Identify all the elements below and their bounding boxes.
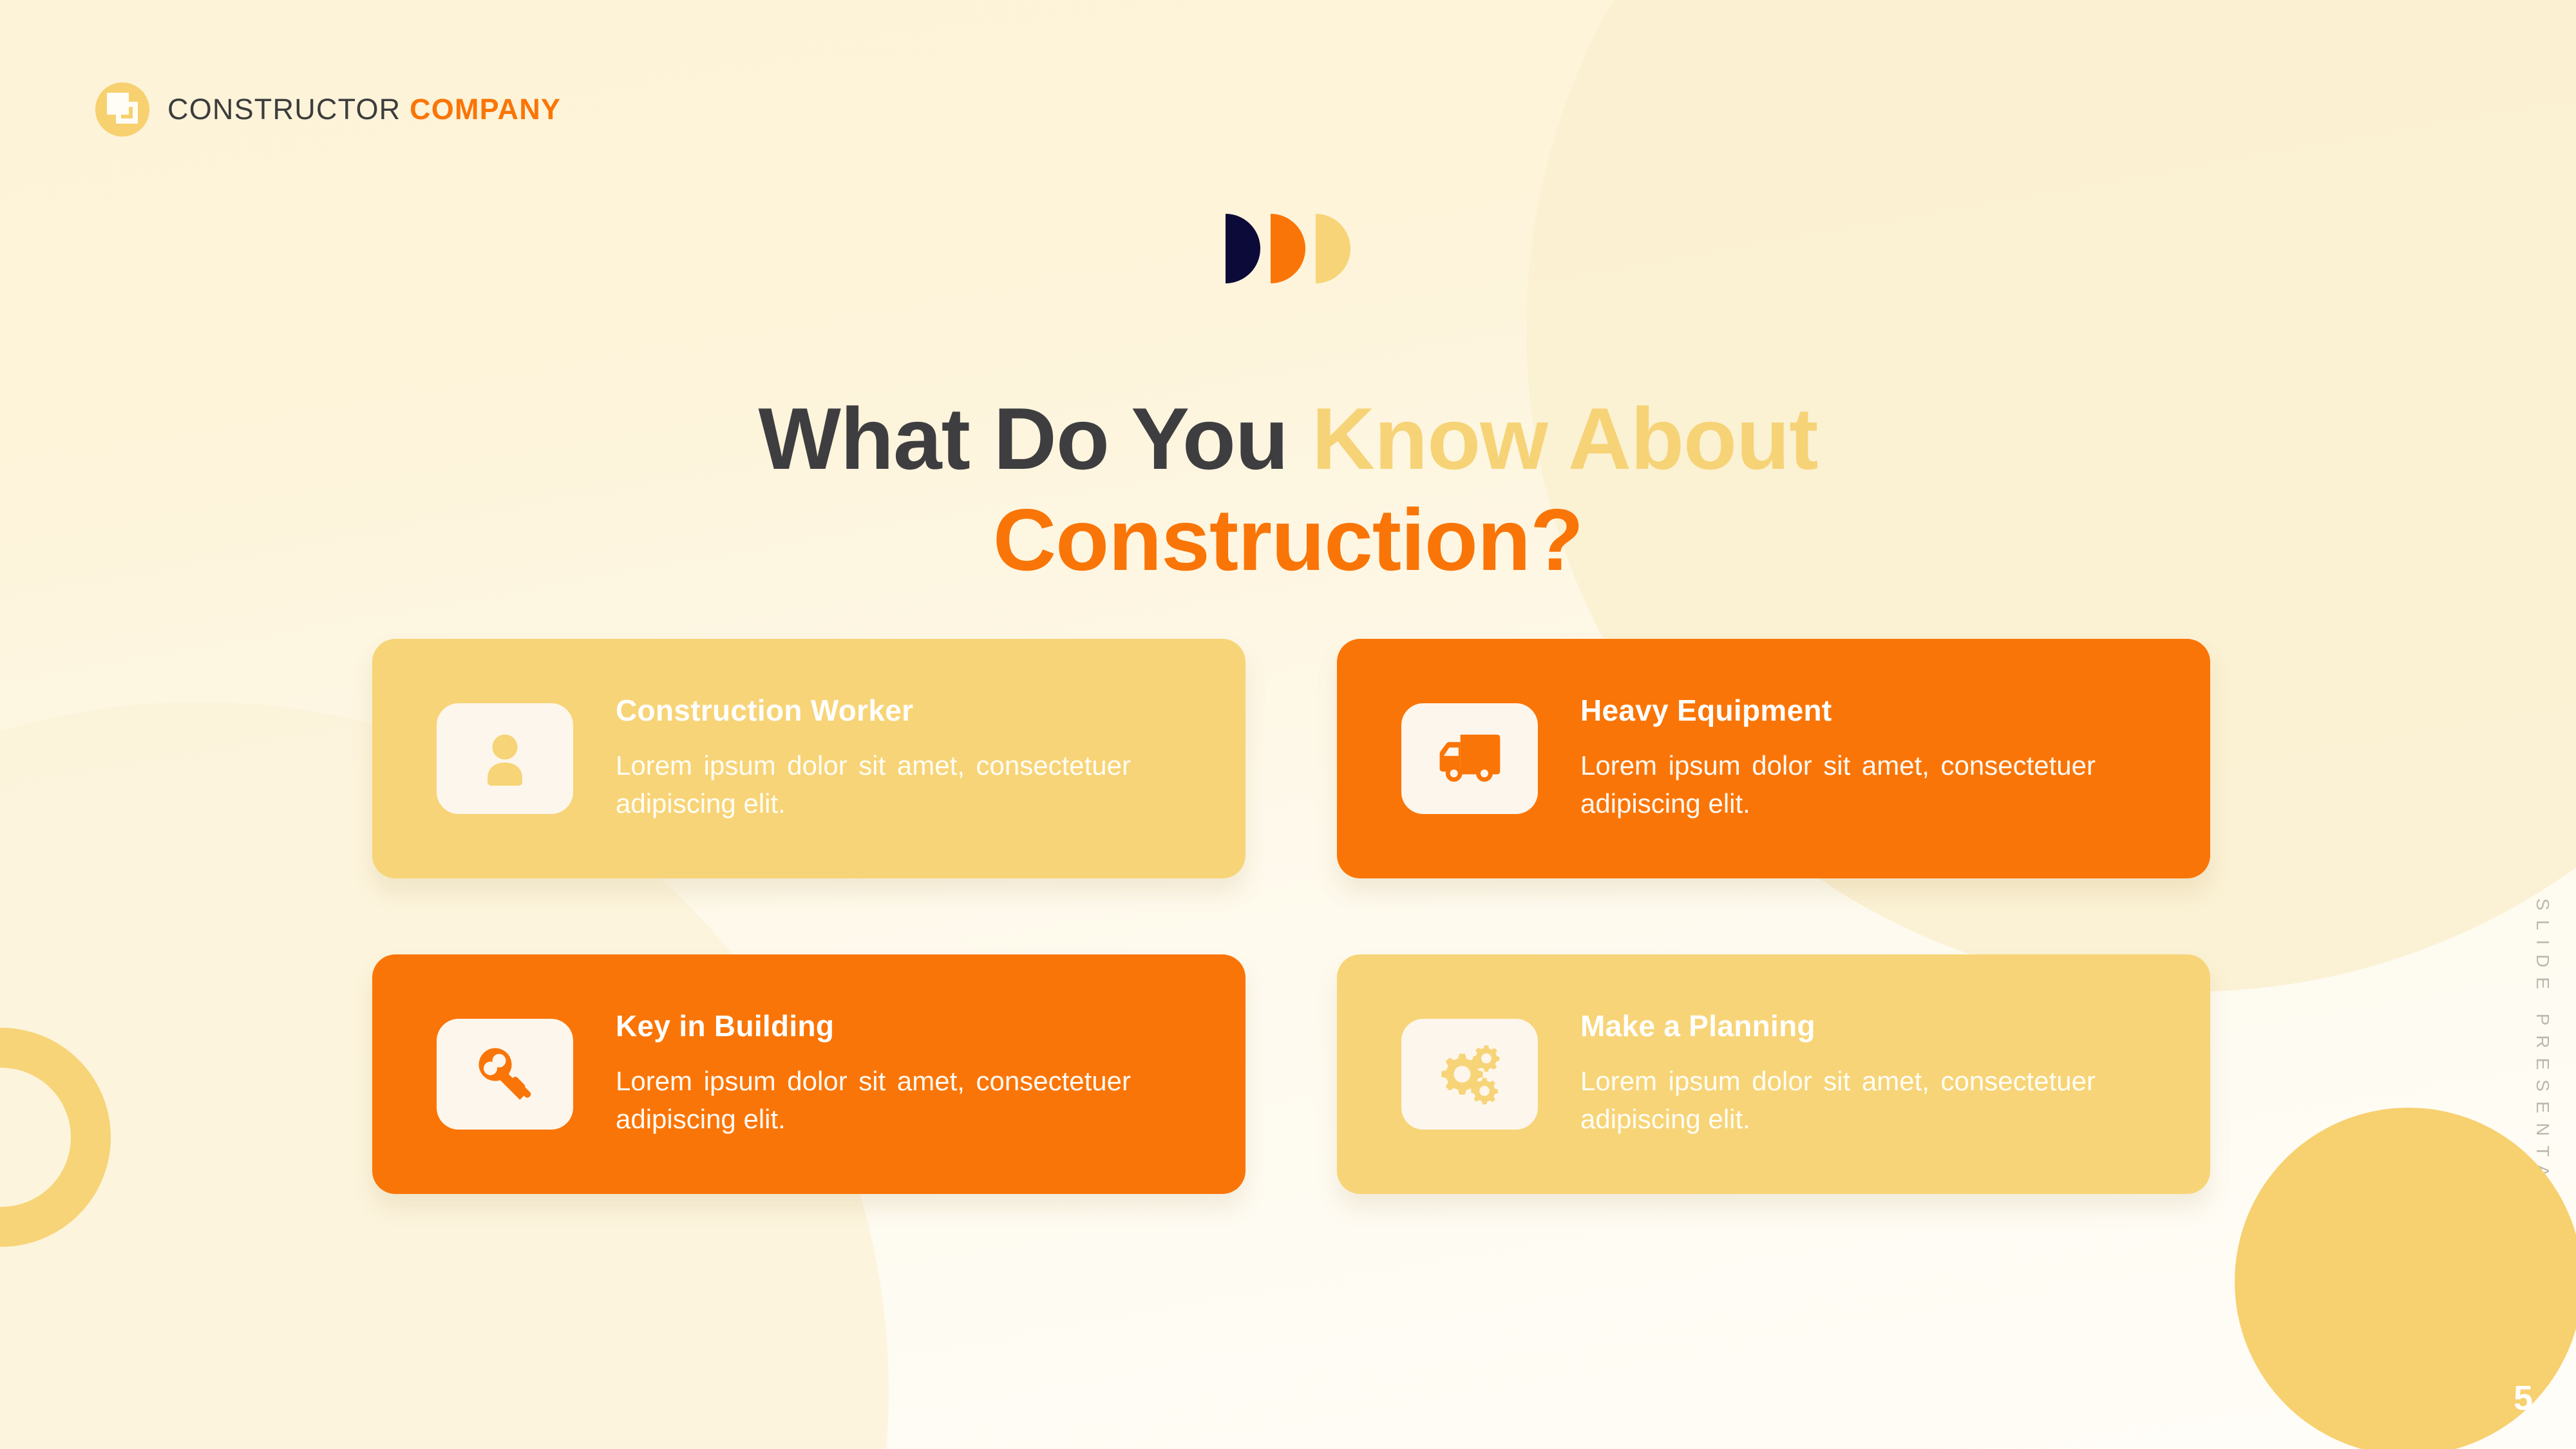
logo-square-front (116, 102, 138, 124)
slide-canvas: CONSTRUCTOR COMPANY What Do You Know Abo… (0, 0, 2576, 1449)
truck-icon (1436, 731, 1503, 786)
brand-header: CONSTRUCTOR COMPANY (95, 82, 561, 137)
brand-name: CONSTRUCTOR COMPANY (167, 93, 561, 126)
card-title: Heavy Equipment (1580, 694, 2174, 727)
card-body: Make a Planning Lorem ipsum dolor sit am… (1580, 1010, 2174, 1139)
page-number: 5 (2514, 1381, 2533, 1416)
feature-card-heavy-equipment[interactable]: Heavy Equipment Lorem ipsum dolor sit am… (1337, 639, 2210, 878)
person-icon (474, 728, 536, 790)
icon-tile (1401, 703, 1538, 814)
title-line1-dark: What Do You (759, 390, 1312, 488)
card-description: Lorem ipsum dolor sit amet, consectetuer… (616, 1062, 1131, 1139)
gold-half-circle-icon (1316, 214, 1350, 283)
icon-tile (437, 703, 573, 814)
card-body: Key in Building Lorem ipsum dolor sit am… (616, 1010, 1209, 1139)
gears-icon (1436, 1041, 1503, 1108)
icon-tile (437, 1019, 573, 1130)
icon-tile (1401, 1019, 1538, 1130)
decorative-d-marks (0, 214, 2576, 283)
card-title: Make a Planning (1580, 1010, 2174, 1043)
card-title: Key in Building (616, 1010, 1209, 1043)
feature-card-make-a-planning[interactable]: Make a Planning Lorem ipsum dolor sit am… (1337, 954, 2210, 1194)
navy-half-circle-icon (1226, 214, 1260, 283)
title-line2-orange: Construction? (993, 491, 1583, 589)
card-description: Lorem ipsum dolor sit amet, consectetuer… (616, 746, 1131, 823)
feature-card-grid: Construction Worker Lorem ipsum dolor si… (372, 639, 2210, 1194)
card-body: Heavy Equipment Lorem ipsum dolor sit am… (1580, 694, 2174, 823)
page-title: What Do You Know About Construction? (0, 388, 2576, 590)
card-title: Construction Worker (616, 694, 1209, 727)
title-line1-gold: Know About (1312, 390, 1818, 488)
orange-half-circle-icon (1271, 214, 1305, 283)
overlapping-squares-logo-icon (95, 82, 149, 137)
brand-name-accent: COMPANY (410, 93, 561, 126)
brand-name-primary: CONSTRUCTOR (167, 93, 410, 126)
feature-card-construction-worker[interactable]: Construction Worker Lorem ipsum dolor si… (372, 639, 1245, 878)
card-body: Construction Worker Lorem ipsum dolor si… (616, 694, 1209, 823)
card-description: Lorem ipsum dolor sit amet, consectetuer… (1580, 1062, 2096, 1139)
key-icon (474, 1043, 536, 1105)
card-description: Lorem ipsum dolor sit amet, consectetuer… (1580, 746, 2096, 823)
feature-card-key-in-building[interactable]: Key in Building Lorem ipsum dolor sit am… (372, 954, 1245, 1194)
